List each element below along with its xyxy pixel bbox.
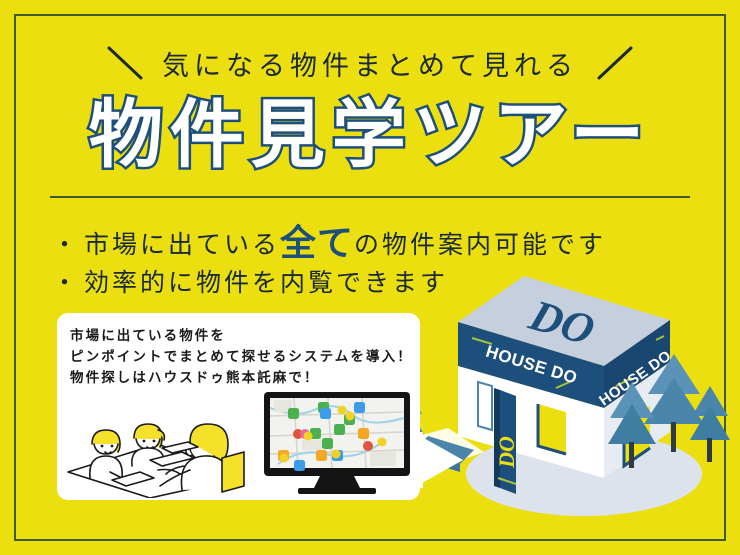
people-at-table-illustration [62, 386, 248, 498]
kicker-text: 気になる物件まとめて見れる [162, 44, 578, 83]
section-divider [50, 196, 690, 198]
bullet-marker: ・ [52, 226, 80, 264]
backslash-mark-icon [106, 45, 144, 83]
info-card-line: 市場に出ている物件を [70, 325, 415, 346]
poster-title: 物件見学ツアー [0, 96, 740, 174]
monitor-map-illustration [258, 388, 416, 498]
bullet-marker: ・ [52, 264, 80, 302]
info-card-line: 物件探しはハウスドゥ熊本託麻で！ [70, 367, 415, 388]
bullet-text-after: の物件案内可能です [354, 226, 606, 264]
info-card-text: 市場に出ている物件を ピンポイントでまとめて探せるシステムを導入！ 物件探しはハ… [70, 325, 415, 388]
forwardslash-mark-icon [596, 45, 634, 83]
bullet-emphasis: 全て [280, 224, 354, 262]
bullet-text-before: 市場に出ている [84, 226, 280, 264]
list-item: ・ 市場に出ている 全て の物件案内可能です [52, 222, 692, 264]
info-card-tail [413, 432, 469, 490]
svg-text:DO: DO [494, 436, 519, 469]
info-card-line: ピンポイントでまとめて探せるシステムを導入！ [70, 346, 415, 367]
store-banner-sign: DO [494, 388, 519, 494]
poster-canvas: 気になる物件まとめて見れる 物件見学ツアー ・ 市場に出ている 全て の物件案内… [0, 0, 740, 555]
house-do-storefront-illustration: DO HOUSE DO HOUSE DO [388, 262, 740, 532]
kicker-row: 気になる物件まとめて見れる [0, 44, 740, 83]
